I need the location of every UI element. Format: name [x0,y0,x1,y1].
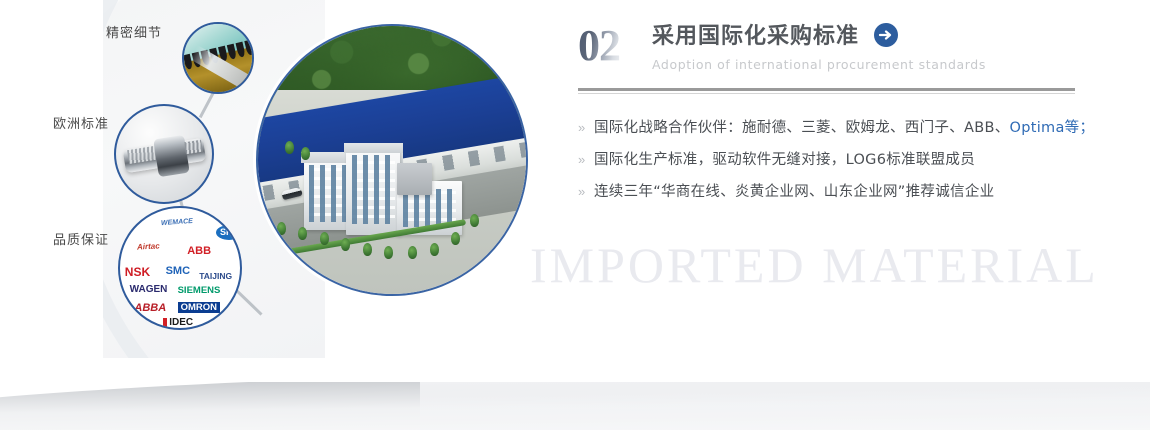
tree [301,147,310,160]
tree [408,246,417,259]
feature-bullet-text: 国际化生产标准，驱动软件无缝对接，LOG6标准联盟成员 [594,150,975,170]
tree [341,238,350,251]
brand-logo: SMC [166,266,190,277]
brand-logo: SIEMENS [178,286,221,296]
factory-building-aerial-photo [256,24,528,296]
promo-banner: 精密细节 欧洲标准 品质保证 WEMACESKFAirtacABBNSKSMCT… [0,0,1150,430]
office-roof-front [344,143,403,154]
bullet-marker-icon: » [578,118,594,138]
label-quality-guarantee: 品质保证 [53,229,109,248]
page-title: 采用国际化采购标准 [652,23,859,51]
section-number: 02 [578,24,620,68]
header-divider [578,88,1075,94]
bullet-marker-icon: » [578,182,594,202]
gear-teeth-closeup-photo [182,22,254,94]
tree [285,141,294,154]
feature-bullet-accent-text: Optima等； [1010,118,1095,138]
section-title-block: 采用国际化采购标准 Adoption of international proc… [652,22,986,72]
brand-logo: OMRON [178,302,220,314]
tree [430,243,439,256]
tree [384,246,393,259]
section-subtitle: Adoption of international procurement st… [652,57,986,72]
brand-logo: SKF [216,225,242,240]
arrow-right-circle-icon[interactable] [873,22,899,48]
brand-logo: ABB [187,246,211,257]
section-content: 02 采用国际化采购标准 Adoption of international p… [578,22,1078,86]
office-windows-front [352,155,395,225]
feature-bullet-list: »国际化战略合作伙伴：施耐德、三菱、欧姆龙、西门子、ABB、Optima等；»国… [578,118,1078,214]
brand-logo: WAGEN [130,285,168,295]
screw-thread-right [184,139,203,153]
brand-logo-list: WEMACESKFAirtacABBNSKSMCTAIJINGWAGENSIEM… [120,208,240,328]
brand-logo: NSK [125,266,150,278]
brand-logo: WEMACE [161,218,193,227]
brand-logo: Airtac [137,242,160,251]
brand-logo: TAIJING [199,272,232,281]
brand-logo: IDEC [163,318,193,328]
bullet-marker-icon: » [578,150,594,170]
tree [470,214,479,227]
tree [451,232,460,245]
brand-logo: ABBA [134,303,166,314]
tree [277,222,286,235]
feature-bullet-item: »连续三年“华商在线、炎黄企业网、山东企业网”推荐诚信企业 [578,182,1078,202]
office-building-side [397,163,432,195]
ball-screw-shaft-photo [114,104,214,204]
feature-bullet-item: »国际化战略合作伙伴：施耐德、三菱、欧姆龙、西门子、ABB、Optima等； [578,118,1078,138]
tree [298,227,307,240]
tree [363,243,372,256]
brand-logos-collage-photo: WEMACESKFAirtacABBNSKSMCTAIJINGWAGENSIEM… [118,206,242,330]
bottom-swoosh-highlight [420,382,1150,430]
feature-bullet-text: 连续三年“华商在线、炎黄企业网、山东企业网”推荐诚信企业 [594,182,994,202]
screw-nut [153,135,189,178]
section-header: 02 采用国际化采购标准 Adoption of international p… [578,22,1078,86]
feature-bullet-item: »国际化生产标准，驱动软件无缝对接，LOG6标准联盟成员 [578,150,1078,170]
label-precision-detail: 精密细节 [106,22,162,41]
label-european-standard: 欧洲标准 [53,113,109,132]
feature-bullet-text: 国际化战略合作伙伴：施耐德、三菱、欧姆龙、西门子、ABB、 [594,118,1010,138]
bottom-swoosh-band [0,382,1150,430]
watermark-text: IMPORTED MATERIAL [530,236,1099,294]
tree [320,232,329,245]
